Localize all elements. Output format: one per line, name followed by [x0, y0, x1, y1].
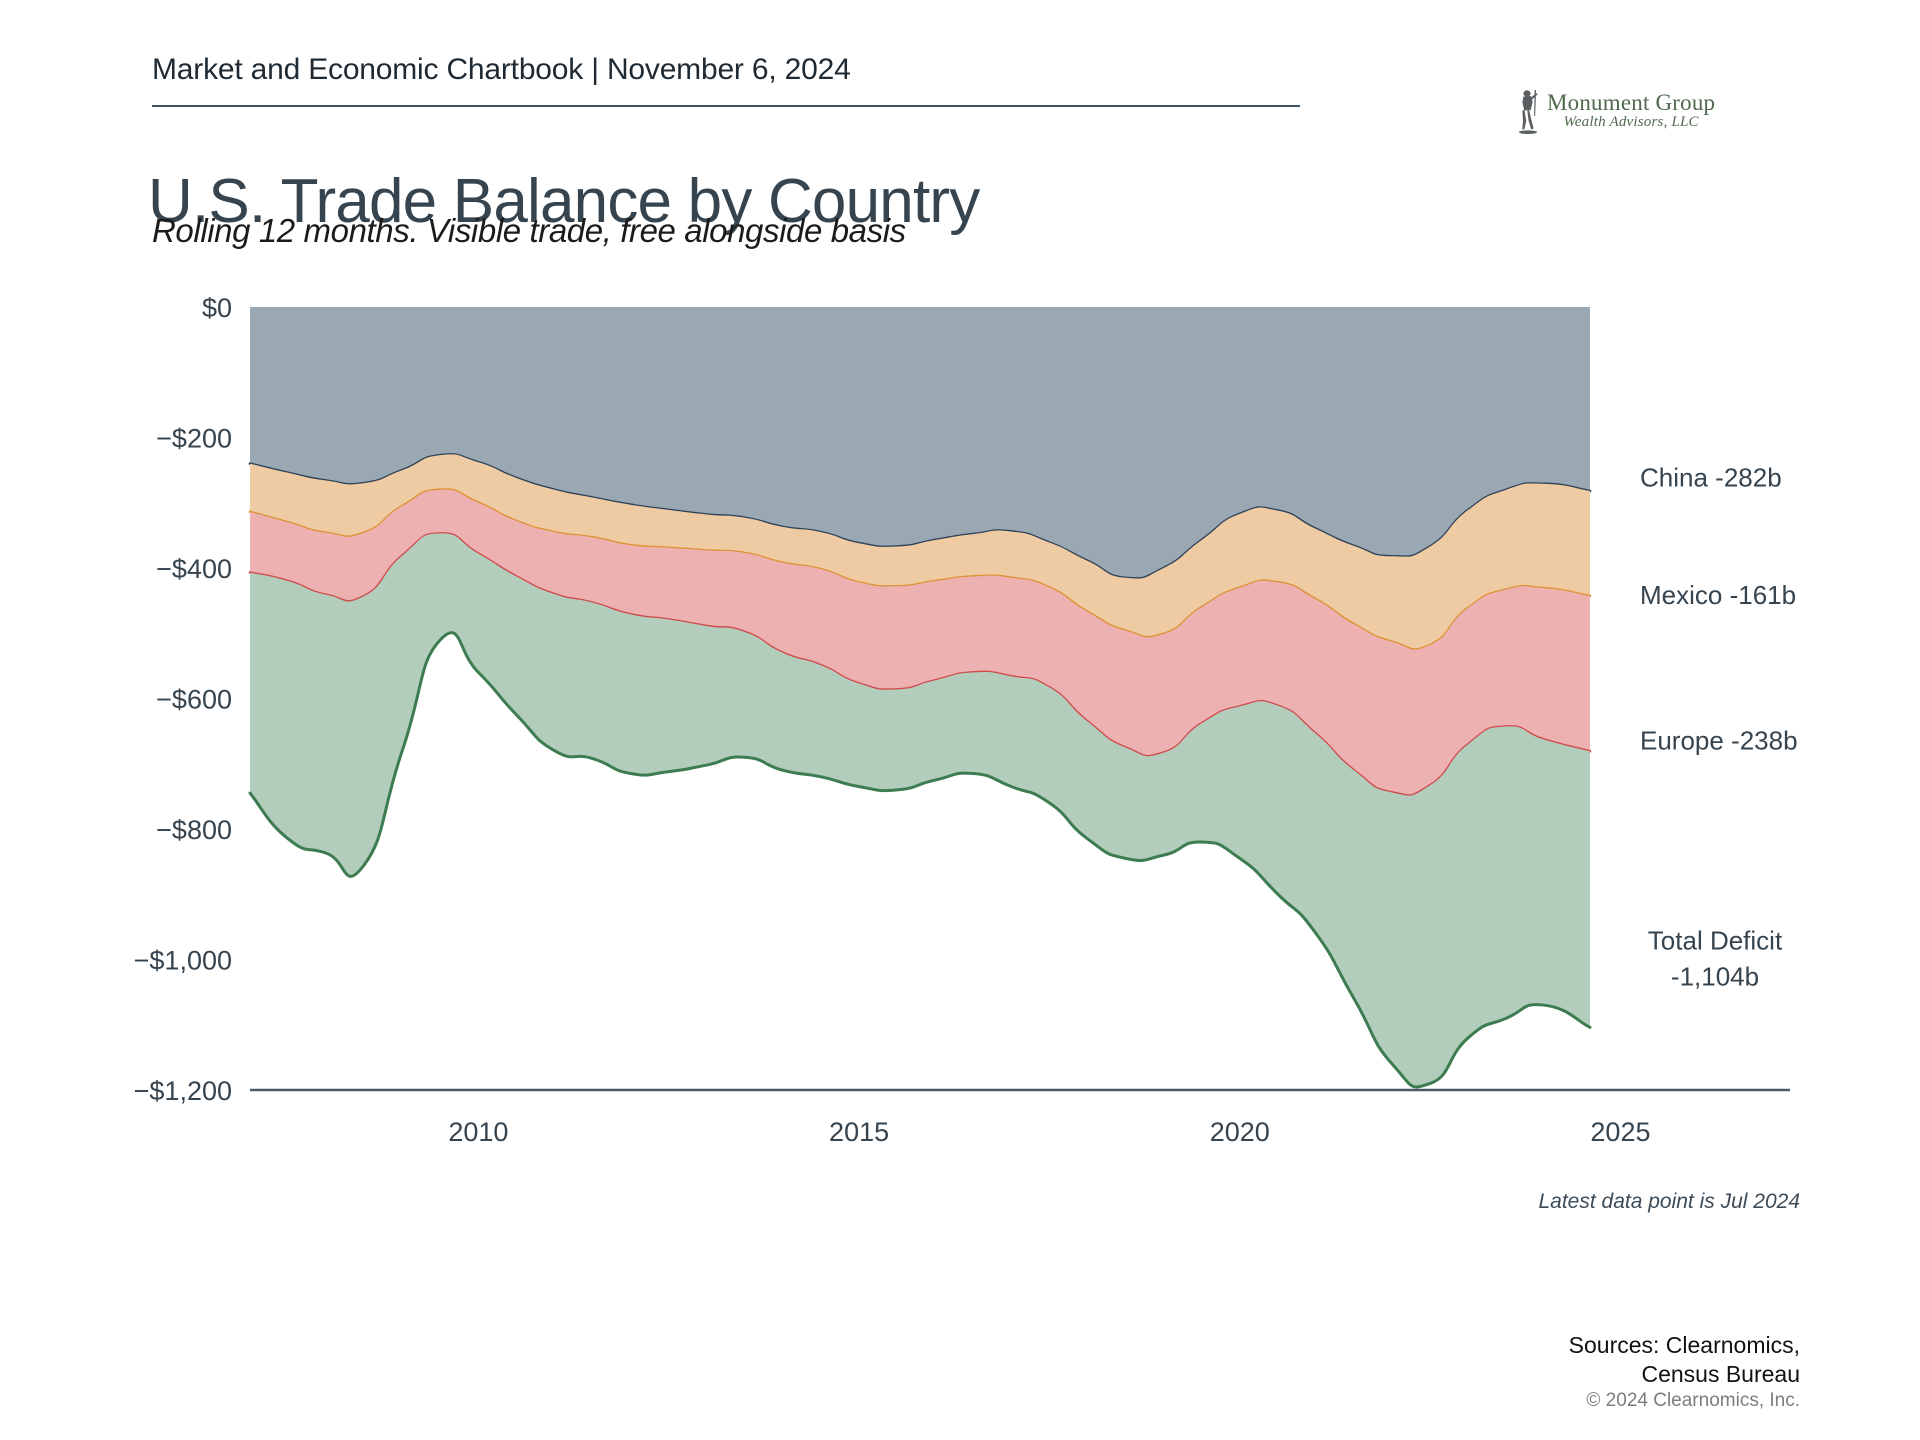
copyright-note: © 2024 Clearnomics, Inc. [1586, 1390, 1800, 1412]
area-band-europe [250, 490, 1590, 796]
y-tick-0: $0 [202, 293, 232, 323]
series-label-china: China -282b [1640, 462, 1782, 492]
series-label-mexico: Mexico -161b [1640, 580, 1796, 610]
brand-tagline: Wealth Advisors, LLC [1547, 115, 1715, 131]
header-divider [152, 105, 1300, 107]
series-label-europe: Europe -238b [1640, 725, 1798, 755]
minuteman-statue-icon [1515, 88, 1541, 134]
series-label-total-deficit-line2: -1,104b [1671, 962, 1759, 992]
y-tick-1: −$200 [156, 424, 232, 454]
series-inline-labels: China -282bMexico -161bEurope -238bTotal… [1640, 462, 1798, 991]
brand-name: Monument Group [1547, 91, 1715, 115]
y-axis-tick-labels: $0−$200−$400−$600−$800−$1,000−$1,200 [134, 293, 232, 1106]
latest-data-note: Latest data point is Jul 2024 [1538, 1190, 1800, 1214]
x-tick-2: 2020 [1210, 1117, 1270, 1147]
chartbook-kicker: Market and Economic Chartbook | November… [152, 53, 851, 87]
plot-areas [250, 307, 1590, 1087]
series-line-europe [250, 533, 1590, 795]
y-tick-3: −$600 [156, 685, 232, 715]
page-subtitle: Rolling 12 months. Visible trade, free a… [152, 212, 906, 250]
y-tick-6: −$1,200 [134, 1076, 232, 1106]
x-tick-1: 2015 [829, 1117, 889, 1147]
series-line-mexico [250, 490, 1590, 650]
area-band-mexico [250, 454, 1590, 649]
y-tick-2: −$400 [156, 554, 232, 584]
brand-logo: Monument Group Wealth Advisors, LLC [1515, 88, 1715, 134]
x-axis-tick-labels: 2010201520202025 [448, 1117, 1650, 1147]
x-tick-3: 2025 [1590, 1117, 1650, 1147]
y-tick-5: −$1,000 [134, 946, 232, 976]
series-label-total-deficit-line1: Total Deficit [1648, 926, 1783, 956]
area-band-total-deficit [250, 533, 1590, 1087]
y-tick-4: −$800 [156, 815, 232, 845]
area-band-china [250, 307, 1590, 579]
sources-line-2: Census Bureau [1569, 1360, 1800, 1389]
sources-note: Sources: Clearnomics, Census Bureau [1569, 1331, 1800, 1389]
sources-line-1: Sources: Clearnomics, [1569, 1331, 1800, 1360]
x-tick-0: 2010 [448, 1117, 508, 1147]
series-line-total-deficit [250, 633, 1590, 1087]
series-line-china [250, 454, 1590, 578]
